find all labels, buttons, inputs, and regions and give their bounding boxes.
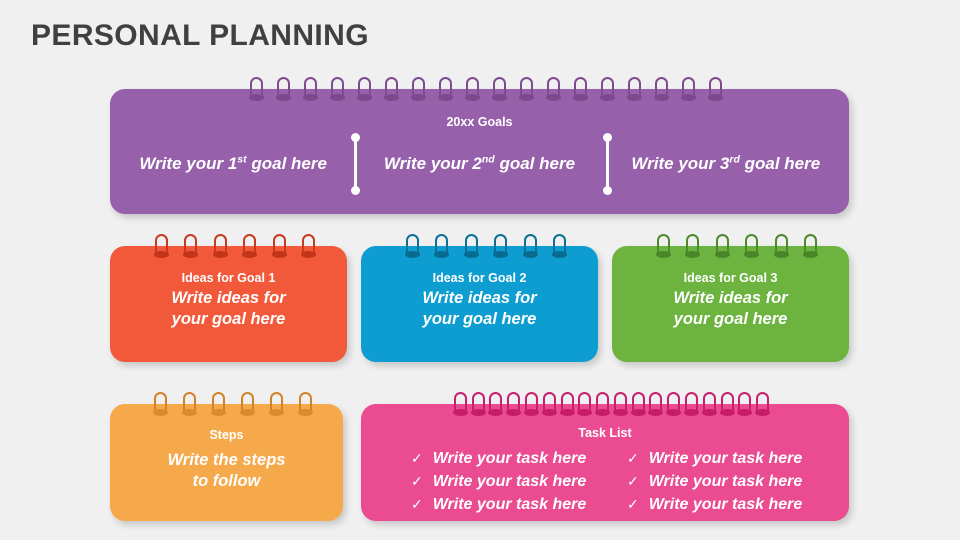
- idea-card-3-line1[interactable]: Write ideas for: [620, 288, 841, 309]
- divider-rule: [606, 137, 609, 191]
- task-label: Write your task here: [649, 448, 803, 470]
- steps-card-content: Steps Write the steps to follow: [110, 428, 343, 491]
- steps-card-body: Steps Write the steps to follow: [110, 404, 343, 521]
- idea-card-1-content: Ideas for Goal 1 Write ideas for your go…: [110, 271, 347, 329]
- task-label: Write your task here: [649, 494, 803, 516]
- idea-card-1-body: Ideas for Goal 1 Write ideas for your go…: [110, 246, 347, 362]
- divider-cap-bottom-icon: [351, 186, 360, 195]
- divider-cap-bottom-icon: [603, 186, 612, 195]
- task-list-title: Task List: [361, 426, 849, 440]
- idea-card-3-line2[interactable]: your goal here: [620, 309, 841, 330]
- task-list-column-2: ✓ Write your task here ✓ Write your task…: [605, 447, 821, 516]
- steps-card-line2[interactable]: to follow: [110, 471, 343, 492]
- check-icon: ✓: [627, 470, 639, 492]
- goal-1-ordinal: st: [237, 153, 246, 165]
- task-label: Write your task here: [433, 494, 587, 516]
- task-list-item[interactable]: ✓ Write your task here: [627, 493, 821, 515]
- task-list-columns: ✓ Write your task here ✓ Write your task…: [361, 447, 849, 516]
- idea-card-3-body: Ideas for Goal 3 Write ideas for your go…: [612, 246, 849, 362]
- idea-card-3-title: Ideas for Goal 3: [620, 271, 841, 285]
- goal-1-suffix: goal here: [247, 154, 327, 173]
- check-icon: ✓: [627, 493, 639, 515]
- goal-3-prefix: Write your 3: [631, 154, 729, 173]
- idea-card-2-line1[interactable]: Write ideas for: [369, 288, 590, 309]
- idea-card-goal-2[interactable]: Ideas for Goal 2 Write ideas for your go…: [361, 246, 598, 362]
- goal-divider-1: [351, 133, 360, 195]
- check-icon: ✓: [411, 470, 423, 492]
- steps-card-line1[interactable]: Write the steps: [110, 450, 343, 471]
- idea-card-1-title: Ideas for Goal 1: [118, 271, 339, 285]
- task-list-item[interactable]: ✓ Write your task here: [411, 493, 605, 515]
- task-list-card[interactable]: Task List ✓ Write your task here ✓ Write…: [361, 404, 849, 521]
- idea-card-1-line2[interactable]: your goal here: [118, 309, 339, 330]
- task-list-body: Task List ✓ Write your task here ✓ Write…: [361, 404, 849, 521]
- task-label: Write your task here: [649, 471, 803, 493]
- task-label: Write your task here: [433, 448, 587, 470]
- goals-card[interactable]: 20xx Goals Write your 1st goal here Writ…: [110, 89, 849, 214]
- idea-card-2-content: Ideas for Goal 2 Write ideas for your go…: [361, 271, 598, 329]
- task-list-item[interactable]: ✓ Write your task here: [627, 470, 821, 492]
- check-icon: ✓: [411, 493, 423, 515]
- goal-2-ordinal: nd: [482, 153, 495, 165]
- goal-1-prefix: Write your 1: [139, 154, 237, 173]
- idea-card-2-line2[interactable]: your goal here: [369, 309, 590, 330]
- goal-3-suffix: goal here: [740, 154, 820, 173]
- task-list-column-1: ✓ Write your task here ✓ Write your task…: [389, 447, 605, 516]
- goal-item-3[interactable]: Write your 3rd goal here: [603, 154, 849, 174]
- check-icon: ✓: [627, 447, 639, 469]
- idea-card-2-title: Ideas for Goal 2: [369, 271, 590, 285]
- task-list-item[interactable]: ✓ Write your task here: [411, 470, 605, 492]
- idea-card-2-body: Ideas for Goal 2 Write ideas for your go…: [361, 246, 598, 362]
- task-list-item[interactable]: ✓ Write your task here: [411, 447, 605, 469]
- task-label: Write your task here: [433, 471, 587, 493]
- goals-heading: 20xx Goals: [110, 115, 849, 129]
- steps-card-title: Steps: [110, 428, 343, 442]
- goal-2-prefix: Write your 2: [384, 154, 482, 173]
- divider-rule: [354, 137, 357, 191]
- check-icon: ✓: [411, 447, 423, 469]
- goal-item-1[interactable]: Write your 1st goal here: [110, 154, 356, 174]
- idea-card-goal-1[interactable]: Ideas for Goal 1 Write ideas for your go…: [110, 246, 347, 362]
- goal-item-2[interactable]: Write your 2nd goal here: [356, 154, 602, 174]
- goal-divider-2: [603, 133, 612, 195]
- task-list-item[interactable]: ✓ Write your task here: [627, 447, 821, 469]
- page-title: PERSONAL PLANNING: [31, 19, 369, 53]
- idea-card-3-content: Ideas for Goal 3 Write ideas for your go…: [612, 271, 849, 329]
- goal-3-ordinal: rd: [729, 153, 740, 165]
- goals-card-body: 20xx Goals Write your 1st goal here Writ…: [110, 89, 849, 214]
- goal-2-suffix: goal here: [495, 154, 575, 173]
- idea-card-1-line1[interactable]: Write ideas for: [118, 288, 339, 309]
- idea-card-goal-3[interactable]: Ideas for Goal 3 Write ideas for your go…: [612, 246, 849, 362]
- steps-card[interactable]: Steps Write the steps to follow: [110, 404, 343, 521]
- goals-row: Write your 1st goal here Write your 2nd …: [110, 141, 849, 187]
